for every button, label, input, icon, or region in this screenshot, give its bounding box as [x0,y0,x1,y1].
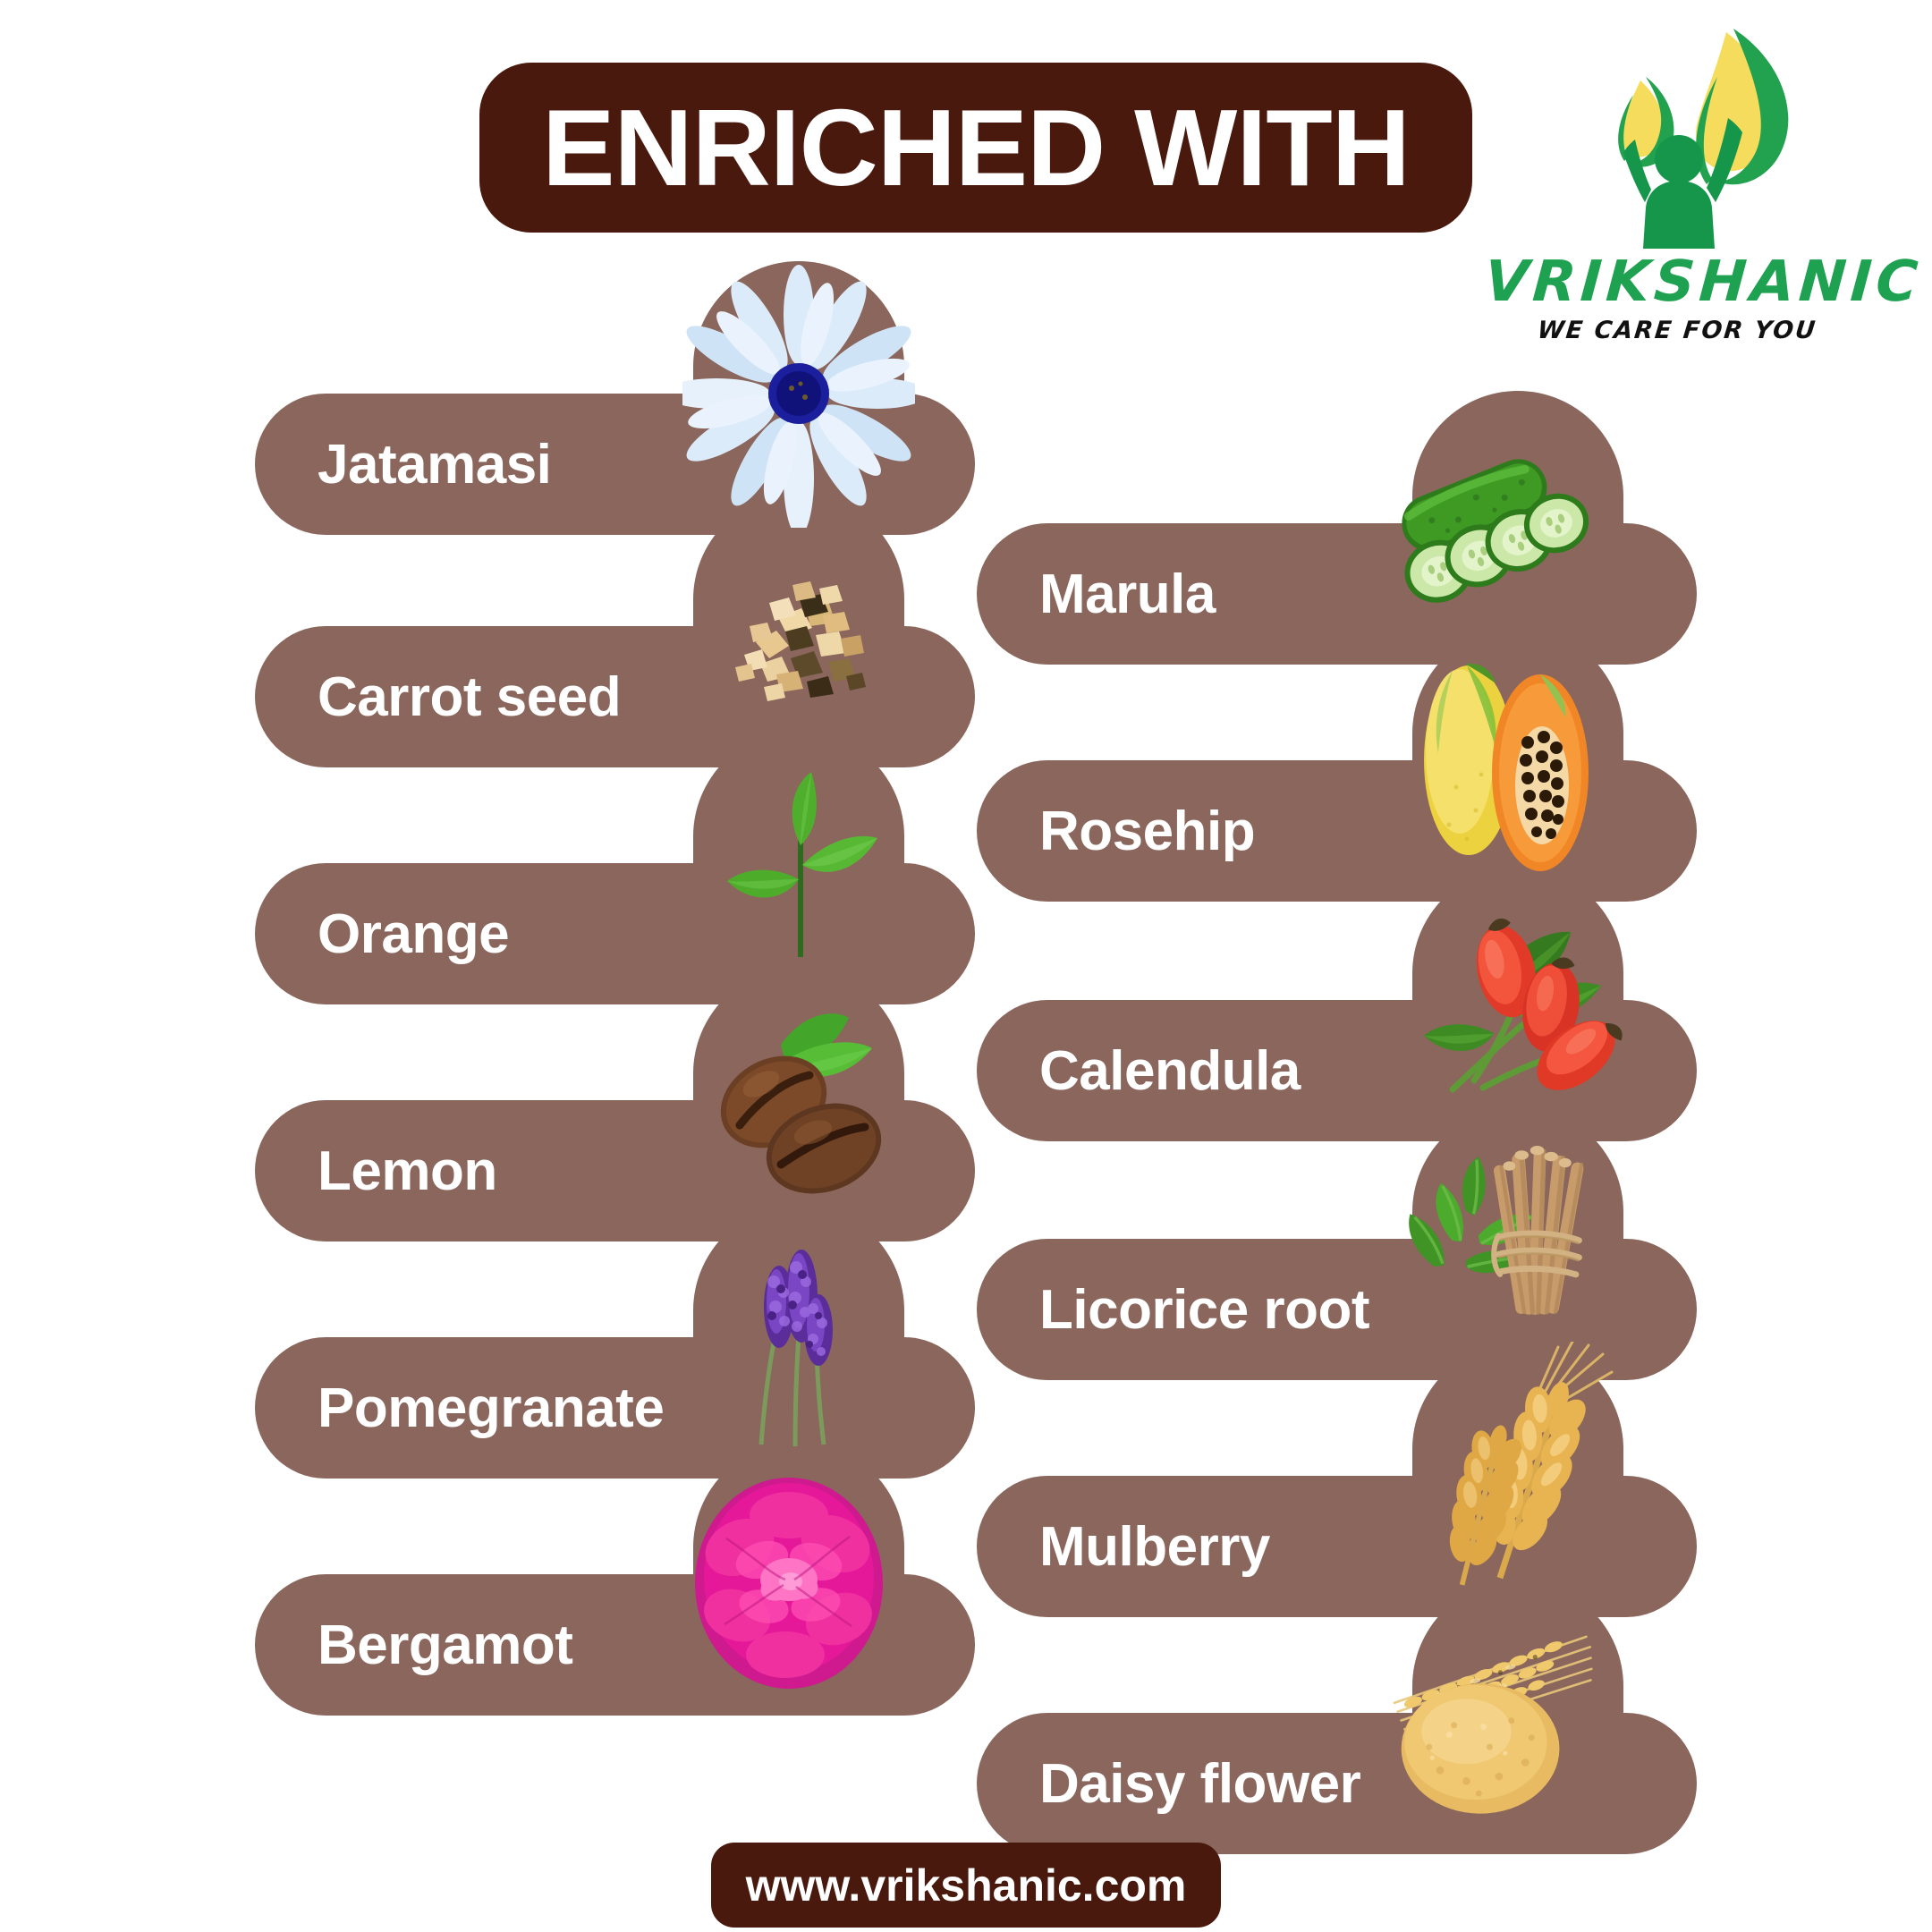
ingredient-label: Marula [1039,563,1216,626]
pill-bump [1412,868,1623,1136]
ingredient-label: Pomegranate [318,1377,664,1440]
pill-bump [693,1205,904,1473]
rosehip-berries-icon [1397,866,1630,1134]
logo-tagline: WE CARE FOR YOU [1483,317,1870,344]
ingredient-label: Jatamasi [318,433,551,496]
ingredient-pill-rosehip[interactable]: Rosehip [977,760,1697,902]
ingredient-pill-licorice-root[interactable]: Licorice root [977,1239,1697,1380]
pill-bump [693,261,904,530]
ingredient-label: Mulberry [1039,1515,1270,1579]
vrikshanic-leaf-figure-icon [1531,25,1826,249]
pill-bump [1412,1106,1623,1375]
blue-daisy-flower-icon [682,259,915,528]
lavender-sprigs-icon [675,1203,908,1471]
pill-bump [693,731,904,999]
ingredient-label: Orange [318,902,509,966]
ingredient-label: Carrot seed [318,665,621,729]
header-banner: ENRICHED WITH [479,63,1472,233]
brand-logo: VRIKSHANIC WE CARE FOR YOU [1485,25,1869,356]
ingredient-pill-calendula[interactable]: Calendula [977,1000,1697,1141]
logo-wordmark: VRIKSHANIC [1482,249,1871,314]
pill-bump [1412,1580,1623,1849]
ingredient-label: Daisy flower [1039,1752,1360,1816]
rice-bran-powder-icon [1370,1579,1603,1847]
ingredient-label: Rosehip [1039,800,1255,863]
wheat-ears-icon [1397,1342,1630,1610]
page-title: ENRICHED WITH [542,93,1410,202]
ingredient-pill-marula[interactable]: Marula [977,523,1697,665]
ingredient-label: Bergamot [318,1614,572,1677]
pink-rose-icon [671,1440,903,1708]
green-tea-leaves-icon [675,729,908,997]
ingredient-pill-pomegranate[interactable]: Pomegranate [255,1337,975,1479]
pill-bump [1412,1343,1623,1612]
ingredient-pill-jatamasi[interactable]: Jatamasi [255,394,975,535]
ingredient-pill-bergamot[interactable]: Bergamot [255,1574,975,1716]
ingredient-label: Calendula [1039,1039,1301,1103]
pill-bump [1412,628,1623,896]
ingredient-pill-carrot-seed[interactable]: Carrot seed [255,626,975,767]
coffee-beans-icon [674,966,906,1234]
ingredient-pill-orange[interactable]: Orange [255,863,975,1004]
ingredient-label: Lemon [318,1140,497,1203]
website-url: www.vrikshanic.com [746,1860,1187,1911]
ingredient-label: Licorice root [1039,1278,1369,1342]
ingredient-pill-lemon[interactable]: Lemon [255,1100,975,1241]
ingredient-pill-mulberry[interactable]: Mulberry [977,1476,1697,1617]
ingredient-pill-daisy-flower[interactable]: Daisy flower [977,1713,1697,1854]
pill-bump [693,968,904,1236]
licorice-root-bundle-icon [1384,1105,1616,1373]
pill-bump [693,1442,904,1710]
cucumber-slices-icon [1370,389,1603,657]
papaya-fruit-icon [1395,626,1628,894]
pill-bump [1412,391,1623,659]
footer-website-bar[interactable]: www.vrikshanic.com [711,1843,1221,1928]
